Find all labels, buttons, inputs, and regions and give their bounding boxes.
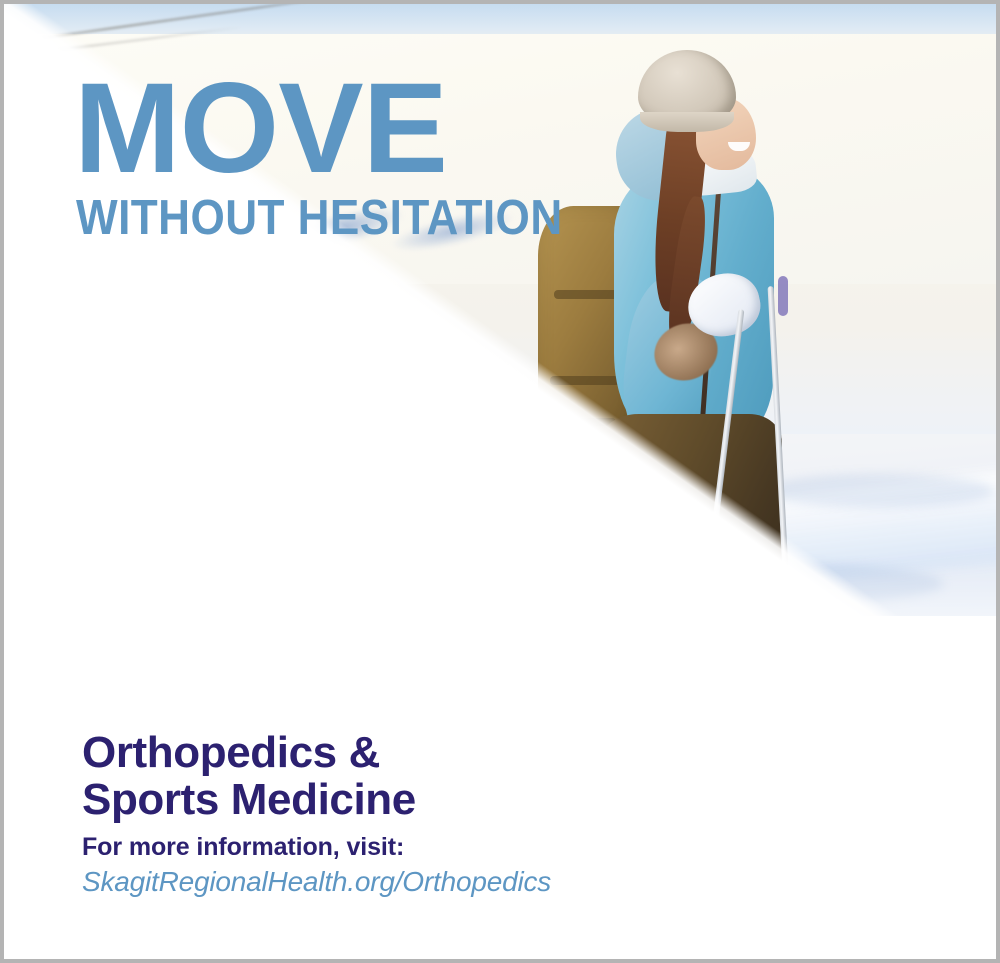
cta-text: For more information, visit: [82, 833, 551, 862]
knit-beanie-hat [638, 50, 736, 126]
knee-patch [614, 552, 676, 606]
trekking-pole-strap [778, 276, 788, 316]
headline-primary: MOVE [74, 68, 594, 190]
website-url[interactable]: SkagitRegionalHealth.org/Orthopedics [82, 866, 551, 898]
backpack-webbing [554, 290, 620, 299]
headline-block: MOVE WITHOUT HESITATION [74, 68, 594, 243]
advertisement-canvas: MOVE WITHOUT HESITATION Orthopedics & Sp… [0, 0, 1000, 963]
service-line-1: Orthopedics & [82, 730, 551, 777]
knee-patch [710, 542, 768, 600]
footer-text-group: Orthopedics & Sports Medicine For more i… [82, 730, 551, 898]
photo-bottom-mask [4, 616, 996, 704]
headline-secondary: WITHOUT HESITATION [76, 194, 542, 243]
service-line-2: Sports Medicine [82, 777, 551, 824]
backpack-webbing [550, 376, 622, 385]
footer-block: Orthopedics & Sports Medicine For more i… [4, 704, 996, 959]
snow-shadow-patch [44, 434, 364, 464]
